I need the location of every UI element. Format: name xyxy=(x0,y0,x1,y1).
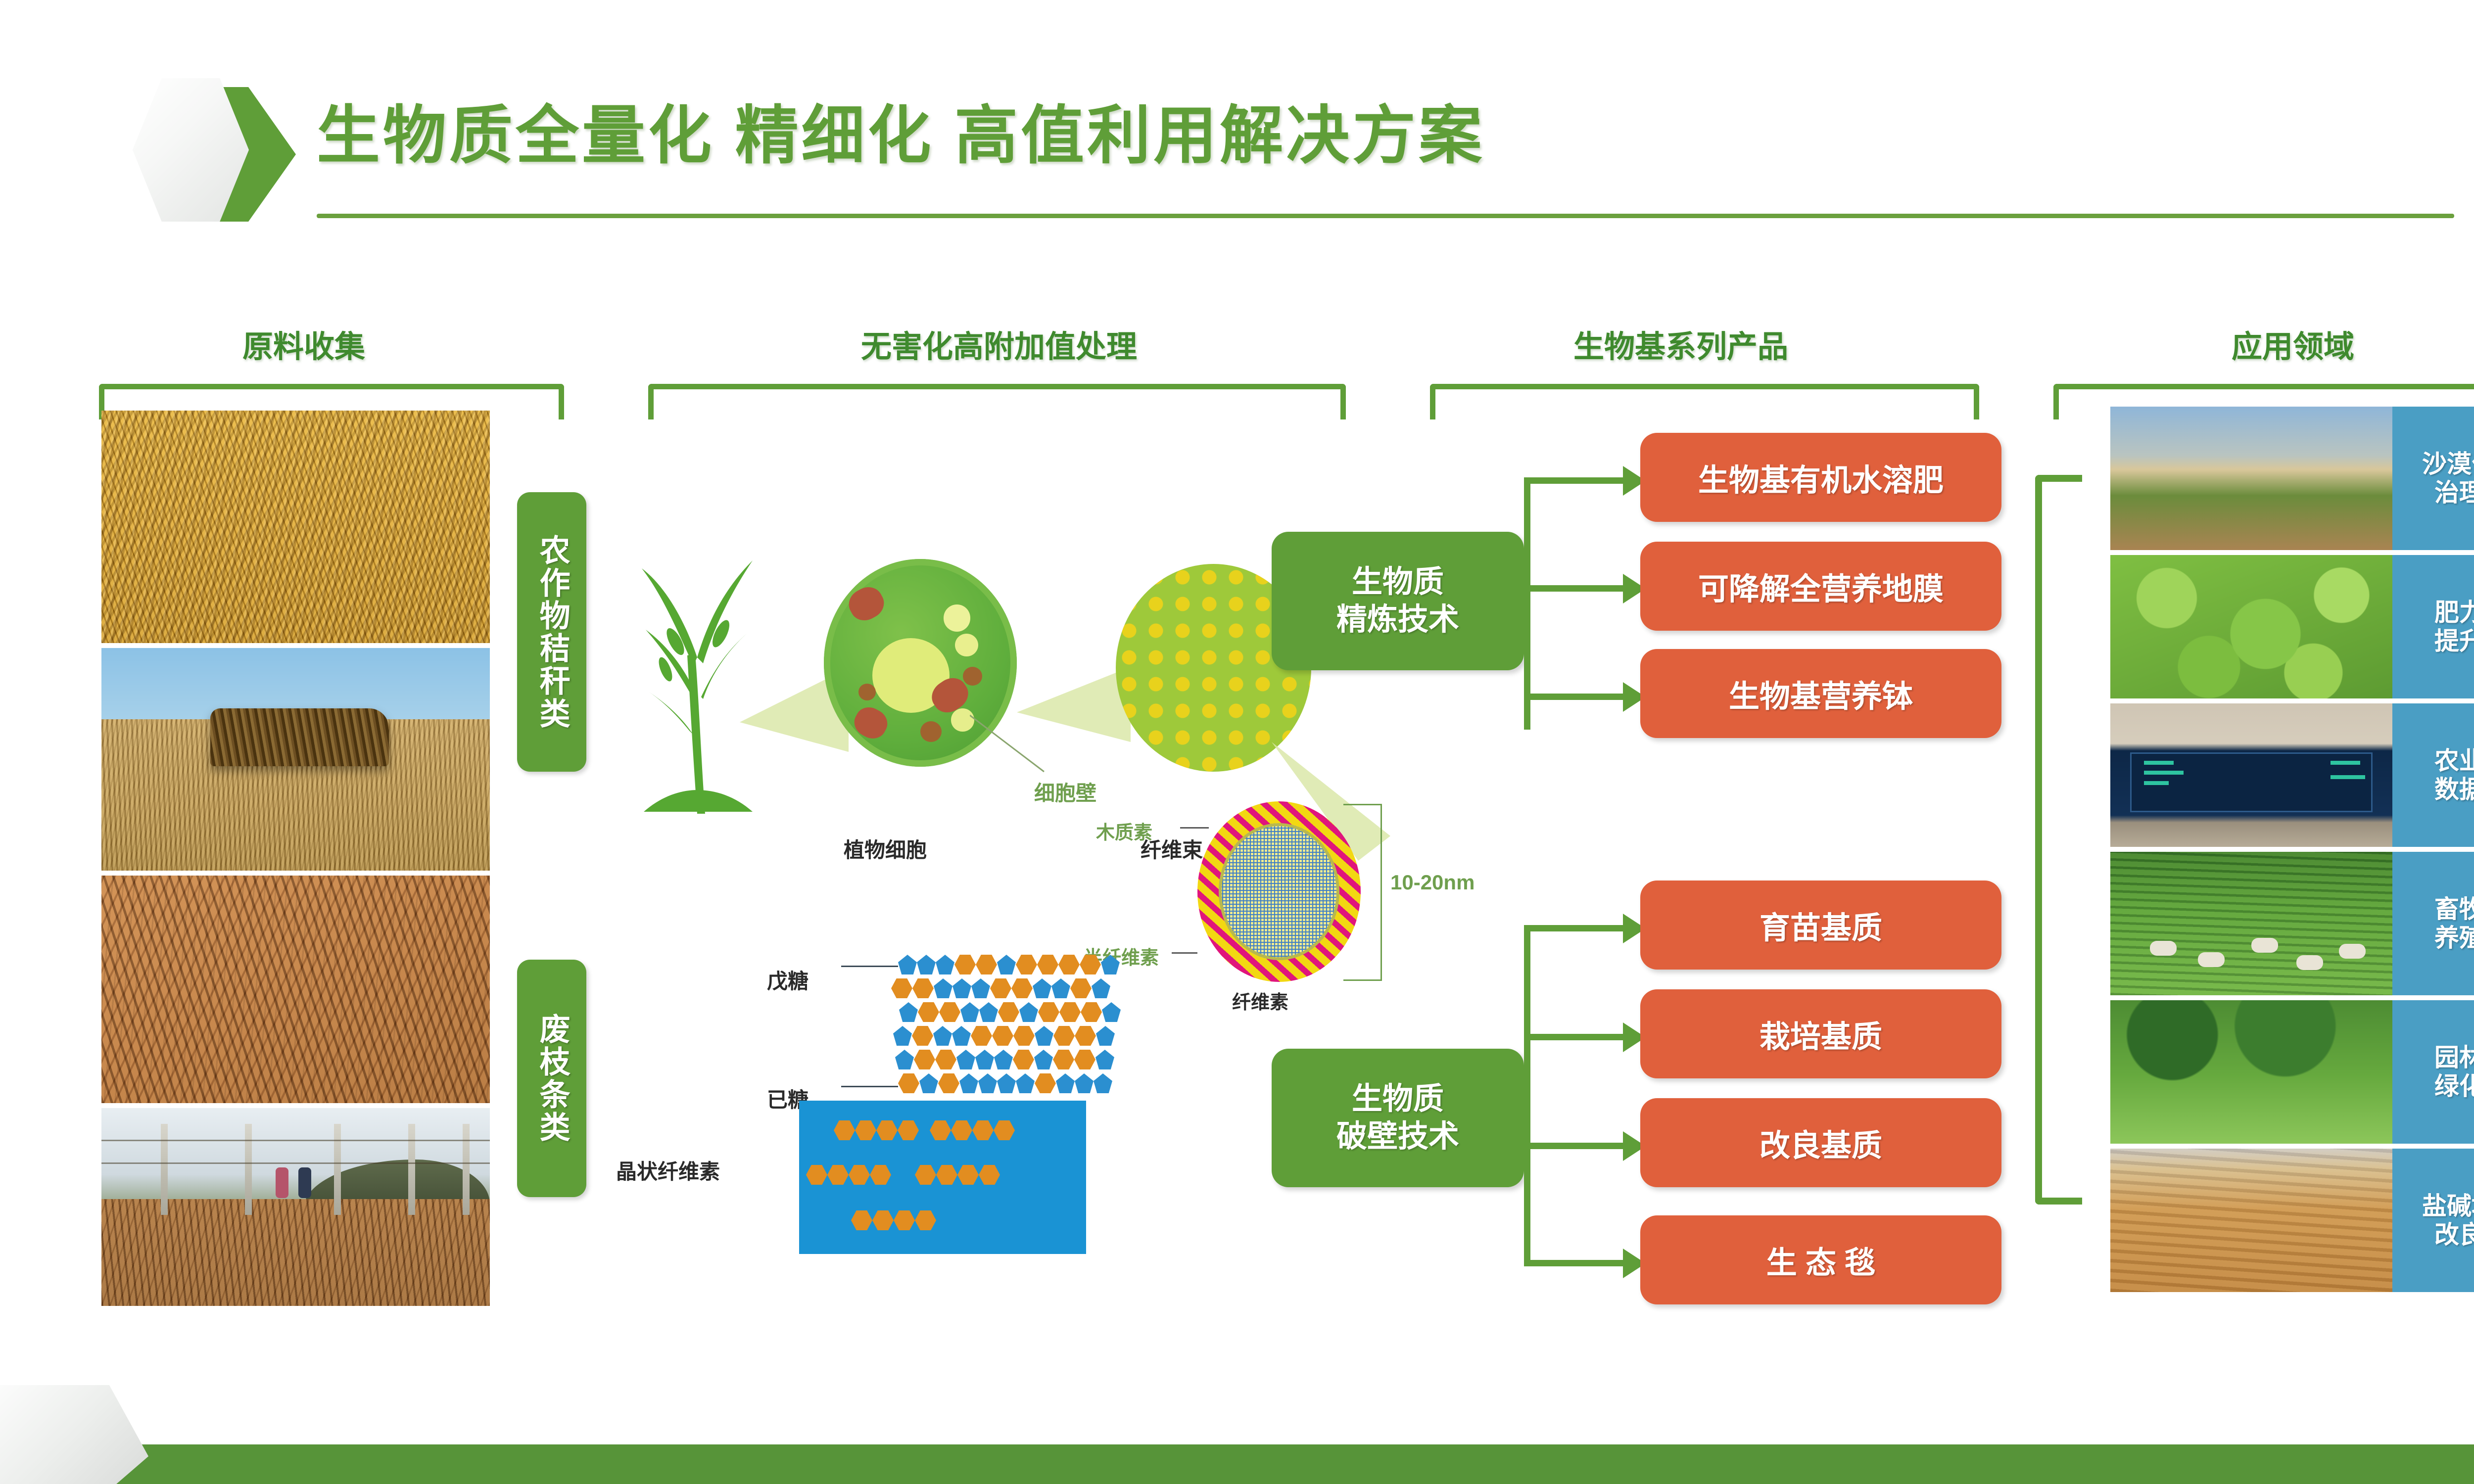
section-header-applications: 应用领域 xyxy=(2232,322,2354,366)
product-box-improvement-substrate[interactable]: 改良基质 xyxy=(1640,1098,2001,1187)
connector-arm-1-2 xyxy=(1524,585,1623,592)
app-label-livestock-line1: 畜牧 xyxy=(2434,895,2474,924)
tech-box-wall-breaking-line1: 生物质 xyxy=(1352,1080,1444,1118)
app-label-desert-control[interactable]: 沙漠化 治理 xyxy=(2392,407,2474,550)
product-box-ecological-blanket[interactable]: 生 态 毯 xyxy=(1640,1215,2001,1304)
tech-box-refining-line2: 精炼技术 xyxy=(1336,601,1459,639)
tech-box-refining-line1: 生物质 xyxy=(1352,563,1444,601)
app-label-saline-land[interactable]: 盐碱地 改良 xyxy=(2392,1149,2474,1292)
infographic-slide: 生物质全量化 精细化 高值利用解决方案 原料收集 无害化高附加值处理 生物基系列… xyxy=(0,0,2474,1484)
app-label-saline-land-line2: 改良 xyxy=(2434,1220,2474,1249)
app-label-desert-control-line1: 沙漠化 xyxy=(2422,450,2474,478)
app-photo-agri-data xyxy=(2110,703,2392,847)
product-box-biodegradable-mulch-film[interactable]: 可降解全营养地膜 xyxy=(1640,542,2001,631)
connector-arm-1-3 xyxy=(1524,694,1623,700)
app-label-agri-data[interactable]: 农业 数据 xyxy=(2392,703,2474,847)
magnify-cone-2 xyxy=(1017,658,1131,752)
app-label-fertility-line1: 肥力 xyxy=(2434,598,2474,627)
connector-arm-2-4 xyxy=(1524,1260,1623,1266)
photo-straw-bale xyxy=(101,648,490,871)
product-box-nutrient-pot[interactable]: 生物基营养钵 xyxy=(1640,649,2001,738)
page-title: 生物质全量化 精细化 高值利用解决方案 xyxy=(317,84,1485,176)
app-label-livestock-line2: 养殖 xyxy=(2434,924,2474,952)
category-label-crop-straw: 农作物秸秆类 xyxy=(517,492,586,772)
connector-spine-1 xyxy=(1524,477,1530,730)
app-label-agri-data-line2: 数据 xyxy=(2434,775,2474,804)
app-label-saline-land-line1: 盐碱地 xyxy=(2422,1192,2474,1220)
category-label-waste-branch: 废枝条类 xyxy=(517,960,586,1197)
product-box-seedling-substrate[interactable]: 育苗基质 xyxy=(1640,881,2001,970)
logo-hexagon xyxy=(133,78,301,232)
bracket-processing xyxy=(648,384,1346,419)
tech-box-wall-breaking-line2: 破壁技术 xyxy=(1336,1118,1459,1156)
connector-arm-2-2 xyxy=(1524,1034,1623,1040)
app-label-livestock[interactable]: 畜牧 养殖 xyxy=(2392,852,2474,995)
tech-box-refining[interactable]: 生物质 精炼技术 xyxy=(1272,532,1524,670)
label-plant-cell: 植物细胞 xyxy=(844,834,927,864)
label-crystalline-cellulose: 晶状纤维素 xyxy=(616,1155,720,1185)
crystalline-cellulose-illustration xyxy=(799,1101,1086,1254)
bracket-to-applications xyxy=(2035,475,2082,1205)
connector-arm-1-1 xyxy=(1524,477,1623,484)
app-label-fertility-line2: 提升 xyxy=(2434,627,2474,655)
section-header-feedstock: 原料收集 xyxy=(242,322,365,366)
bracket-products xyxy=(1430,384,1979,419)
app-label-desert-control-line2: 治理 xyxy=(2434,478,2474,507)
app-photo-desert-control xyxy=(2110,407,2392,550)
section-header-products: 生物基系列产品 xyxy=(1573,322,1788,366)
app-label-fertility[interactable]: 肥力 提升 xyxy=(2392,555,2474,698)
product-box-cultivation-substrate[interactable]: 栽培基质 xyxy=(1640,989,2001,1078)
connector-spine-2 xyxy=(1524,925,1530,1266)
photo-branches xyxy=(101,876,490,1103)
app-photo-saline-land xyxy=(2110,1149,2392,1292)
footer-left-shape xyxy=(0,1385,148,1484)
connector-arm-2-3 xyxy=(1524,1143,1623,1149)
tech-box-wall-breaking[interactable]: 生物质 破壁技术 xyxy=(1272,1049,1524,1187)
app-label-landscaping-line1: 园林 xyxy=(2434,1043,2474,1072)
label-cellulose: 纤维素 xyxy=(1232,987,1288,1014)
label-dimension: 10-20nm xyxy=(1390,871,1475,894)
app-photo-livestock xyxy=(2110,852,2392,995)
app-photo-fertility xyxy=(2110,555,2392,698)
footer-bar xyxy=(0,1444,2474,1484)
connector-arm-2-1 xyxy=(1524,925,1623,931)
section-header-processing: 无害化高附加值处理 xyxy=(861,322,1137,366)
app-label-landscaping-line2: 绿化 xyxy=(2434,1072,2474,1101)
photo-vineyard xyxy=(101,1108,490,1306)
label-pentose: 戊糖 xyxy=(767,965,809,995)
app-label-agri-data-line1: 农业 xyxy=(2434,746,2474,775)
photo-corn-stover xyxy=(101,411,490,643)
label-lignin: 木质素 xyxy=(1096,817,1152,844)
title-underline xyxy=(317,214,2454,218)
app-label-landscaping[interactable]: 园林 绿化 xyxy=(2392,1000,2474,1144)
app-photo-landscaping xyxy=(2110,1000,2392,1144)
dimension-line xyxy=(1380,804,1382,981)
product-box-water-soluble-fertilizer[interactable]: 生物基有机水溶肥 xyxy=(1640,433,2001,522)
label-cell-wall: 细胞壁 xyxy=(1034,777,1096,807)
cellulose-nanofiber-illustration xyxy=(1197,801,1361,982)
